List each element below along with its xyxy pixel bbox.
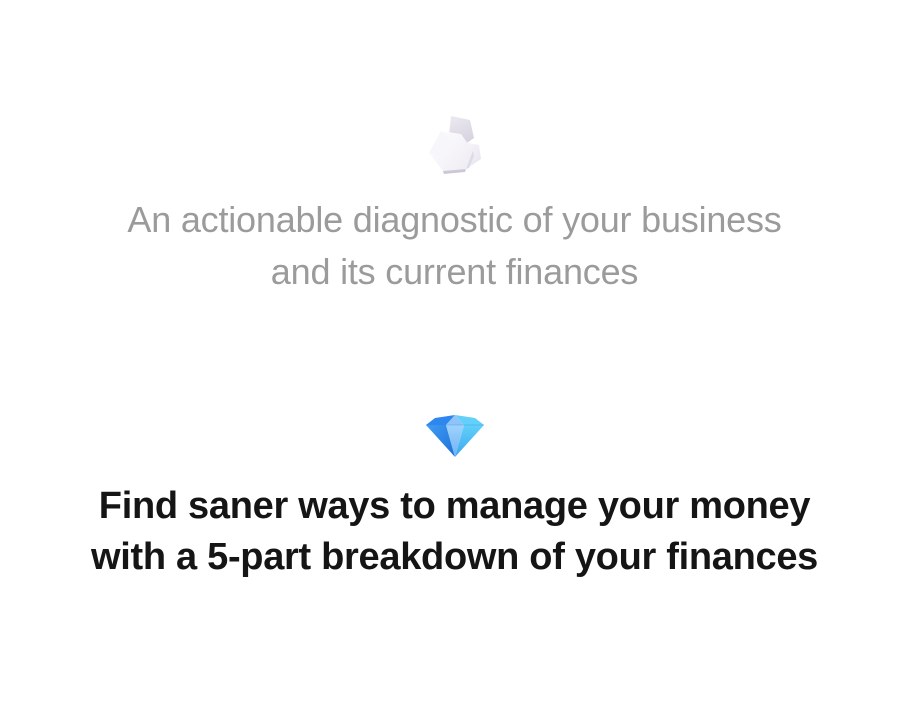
headline-text: Find saner ways to manage your money wit…	[45, 481, 865, 583]
muted-subtitle: An actionable diagnostic of your busines…	[55, 194, 855, 298]
faded-gem-icon	[421, 111, 489, 177]
promo-screen: An actionable diagnostic of your busines…	[0, 0, 909, 702]
blue-gem-icon	[422, 404, 488, 460]
